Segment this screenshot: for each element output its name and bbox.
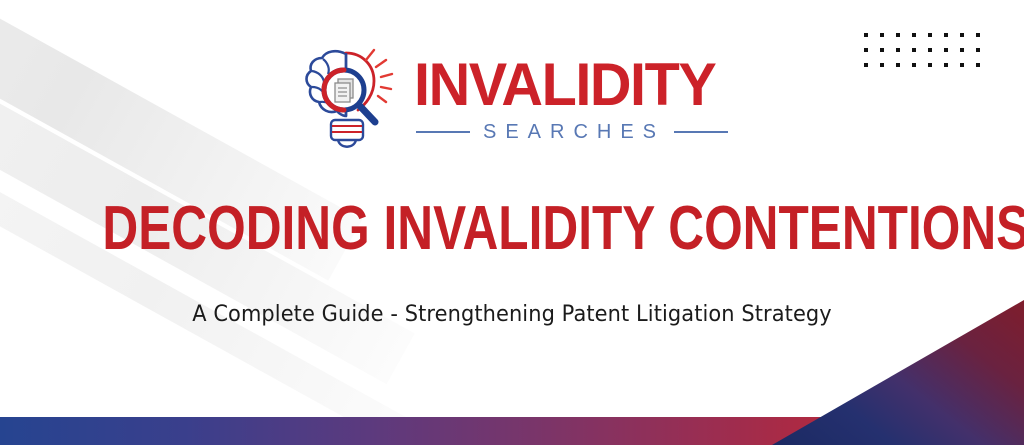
page-title: DECODING INVALIDITY CONTENTIONS [102,198,921,260]
brand-logo[interactable]: INVALIDITY SEARCHES [0,42,1024,154]
logo-wordmark: INVALIDITY [414,56,715,115]
grid-dot [880,33,884,37]
banner-root: INVALIDITY SEARCHES DECODING INVALIDITY … [0,0,1024,445]
grid-dot [928,33,932,37]
tagline-rule-left [416,131,470,133]
grid-dot [896,33,900,37]
grid-dot [864,33,868,37]
grid-dot [944,33,948,37]
grid-dot [976,33,980,37]
logo-wordmark-group: INVALIDITY SEARCHES [414,52,728,144]
grid-dot [912,33,916,37]
logo-tagline: SEARCHES [479,121,665,144]
logo-tagline-row: SEARCHES [414,121,728,144]
brain-lightbulb-magnifier-icon [296,42,400,154]
grid-dot [960,33,964,37]
page-subtitle: A Complete Guide - Strengthening Patent … [36,301,988,327]
tagline-rule-right [674,131,728,133]
